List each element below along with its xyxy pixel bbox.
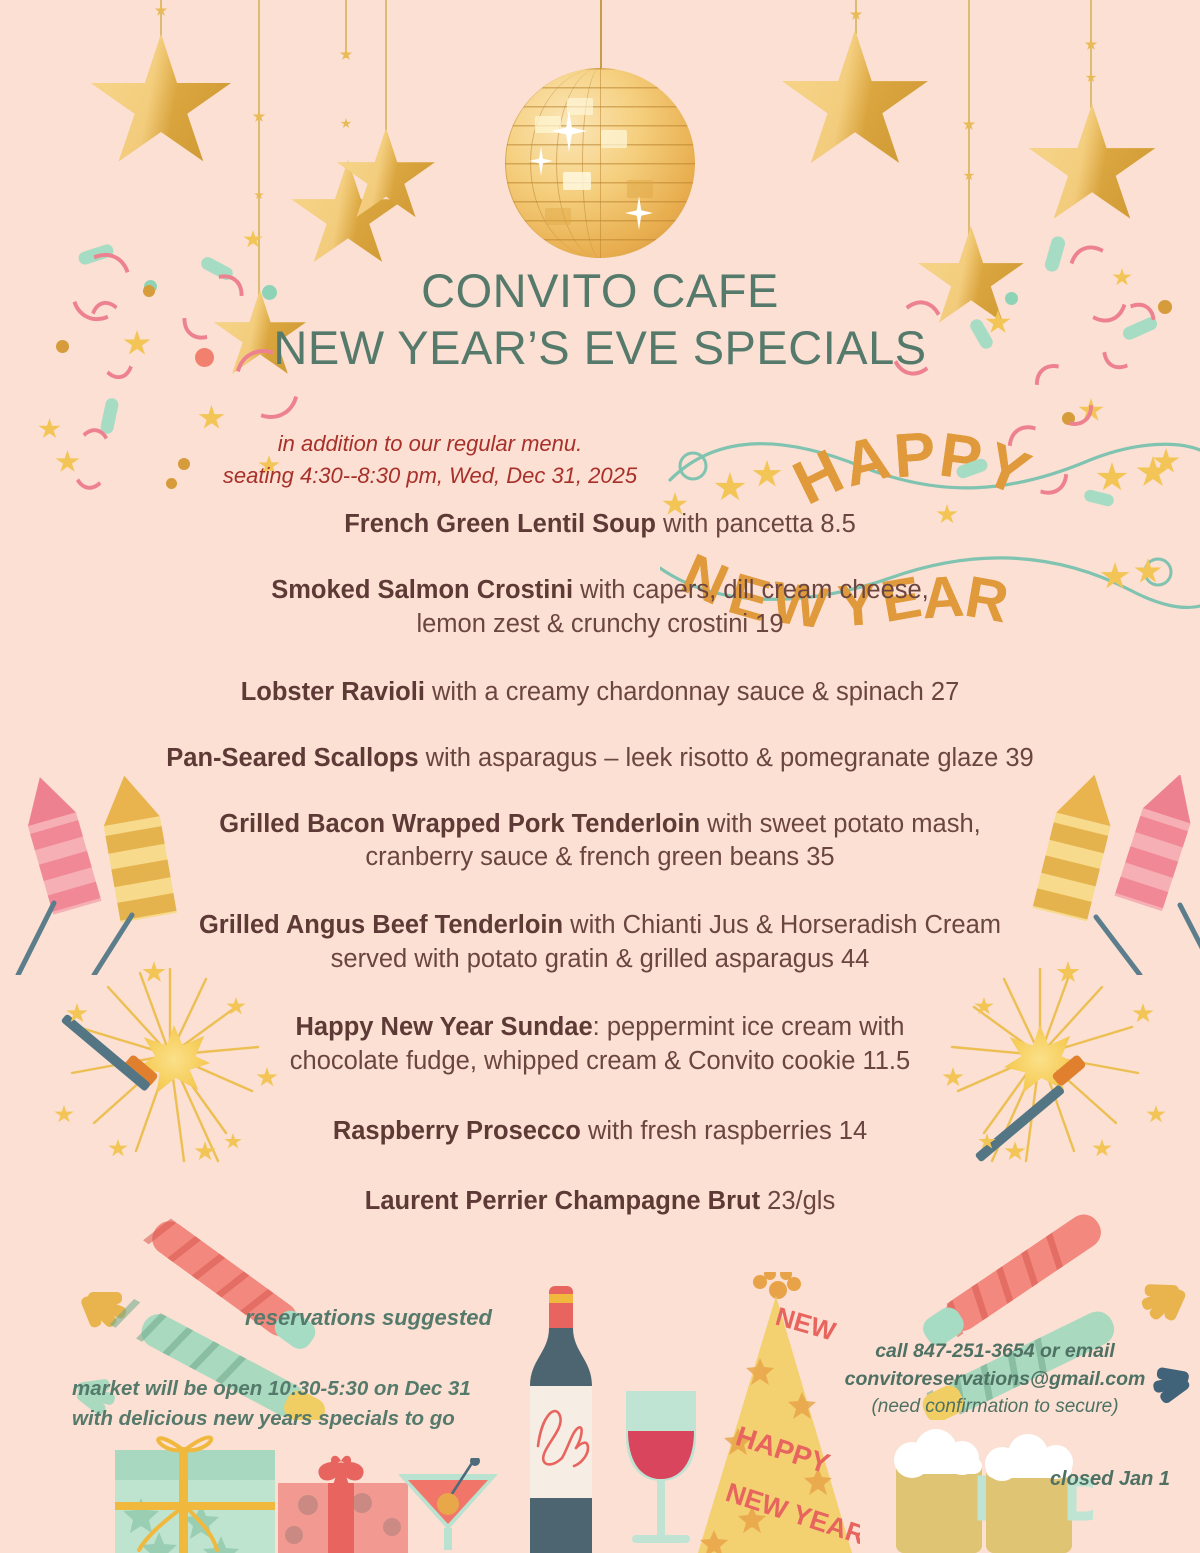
menu-item: Grilled Angus Beef Tenderloin with Chian… — [0, 909, 1200, 977]
contact-confirmation-note: (need confirmation to secure) — [820, 1393, 1170, 1422]
menu-item-name: Lobster Ravioli — [241, 678, 425, 706]
subtitle-line-2: seating 4:30--8:30 pm, Wed, Dec 31, 2025 — [110, 460, 750, 492]
menu-item-line: Smoked Salmon Crostini with capers, dill… — [0, 574, 1200, 608]
menu-item-line: served with potato gratin & grilled aspa… — [0, 943, 1200, 977]
menu-item-line: Pan-Seared Scallops with asparagus – lee… — [0, 742, 1200, 776]
reservations-note: reservations suggested — [245, 1305, 492, 1331]
menu-item-description: with a creamy chardonnay sauce & spinach… — [425, 678, 959, 706]
menu-item: Lobster Ravioli with a creamy chardonnay… — [0, 676, 1200, 710]
menu-item-name: Raspberry Prosecco — [333, 1117, 581, 1145]
menu-item: Pan-Seared Scallops with asparagus – lee… — [0, 742, 1200, 776]
event-subtitle: in addition to our regular menu. seating… — [110, 428, 750, 492]
menu-item: Smoked Salmon Crostini with capers, dill… — [0, 574, 1200, 642]
menu-item-line: Grilled Angus Beef Tenderloin with Chian… — [0, 909, 1200, 943]
poster-title: CONVITO CAFE NEW YEAR’S EVE SPECIALS — [0, 262, 1200, 377]
menu-item: Happy New Year Sundae: peppermint ice cr… — [0, 1011, 1200, 1079]
martini-glass — [388, 1458, 508, 1553]
menu-item: Raspberry Prosecco with fresh raspberrie… — [0, 1115, 1200, 1149]
menu-item-line: chocolate fudge, whipped cream & Convito… — [0, 1045, 1200, 1079]
menu-item-description: 23/gls — [760, 1187, 835, 1215]
contact-block: call 847-251-3654 or email convitoreserv… — [820, 1338, 1170, 1422]
gift-box-mint — [105, 1432, 285, 1553]
menu-item-description: served with potato gratin & grilled aspa… — [331, 945, 870, 973]
menu-list: French Green Lentil Soup with pancetta 8… — [0, 508, 1200, 1249]
menu-item-line: Lobster Ravioli with a creamy chardonnay… — [0, 676, 1200, 710]
menu-item-name: French Green Lentil Soup — [344, 510, 656, 538]
menu-item-name: Grilled Angus Beef Tenderloin — [199, 911, 563, 939]
menu-item-line: Laurent Perrier Champagne Brut 23/gls — [0, 1185, 1200, 1219]
menu-item-description: with Chianti Jus & Horseradish Cream — [563, 911, 1001, 939]
menu-item-description: with sweet potato mash, — [700, 810, 981, 838]
menu-item-name: Laurent Perrier Champagne Brut — [365, 1187, 760, 1215]
menu-item-line: French Green Lentil Soup with pancetta 8… — [0, 508, 1200, 542]
menu-item-description: chocolate fudge, whipped cream & Convito… — [290, 1047, 910, 1075]
menu-item-description: with asparagus – leek risotto & pomegran… — [419, 744, 1034, 772]
closed-note: closed Jan 1 — [1050, 1468, 1170, 1491]
menu-item-name: Smoked Salmon Crostini — [271, 576, 573, 604]
menu-item-line: Raspberry Prosecco with fresh raspberrie… — [0, 1115, 1200, 1149]
contact-phone-line[interactable]: call 847-251-3654 or email — [820, 1338, 1170, 1366]
menu-item-description: cranberry sauce & french green beans 35 — [365, 843, 834, 871]
contact-email-line[interactable]: convitoreservations@gmail.com — [820, 1366, 1170, 1394]
menu-item-name: Grilled Bacon Wrapped Pork Tenderloin — [219, 810, 700, 838]
menu-item-description: : peppermint ice cream with — [593, 1013, 905, 1041]
restaurant-name: CONVITO CAFE — [0, 262, 1200, 319]
menu-item-description: with capers, dill cream cheese, — [573, 576, 929, 604]
event-title: NEW YEAR’S EVE SPECIALS — [0, 319, 1200, 376]
poster-canvas: H A P P Y N E W Y E A R — [0, 0, 1200, 1553]
menu-item-line: Happy New Year Sundae: peppermint ice cr… — [0, 1011, 1200, 1045]
market-line-1: market will be open 10:30-5:30 on Dec 31 — [72, 1374, 552, 1404]
menu-item: Grilled Bacon Wrapped Pork Tenderloin wi… — [0, 808, 1200, 876]
menu-item-name: Happy New Year Sundae — [296, 1013, 593, 1041]
menu-item-name: Pan-Seared Scallops — [166, 744, 418, 772]
menu-item: French Green Lentil Soup with pancetta 8… — [0, 508, 1200, 542]
menu-item-line: cranberry sauce & french green beans 35 — [0, 841, 1200, 875]
menu-item-description: with fresh raspberries 14 — [581, 1117, 867, 1145]
market-line-2: with delicious new years specials to go — [72, 1404, 552, 1434]
menu-item-description: with pancetta 8.5 — [656, 510, 856, 538]
market-hours-note: market will be open 10:30-5:30 on Dec 31… — [72, 1374, 552, 1433]
subtitle-line-1: in addition to our regular menu. — [110, 428, 750, 460]
menu-item: Laurent Perrier Champagne Brut 23/gls — [0, 1185, 1200, 1219]
menu-item-description: lemon zest & crunchy crostini 19 — [416, 610, 783, 638]
menu-item-line: lemon zest & crunchy crostini 19 — [0, 608, 1200, 642]
menu-item-line: Grilled Bacon Wrapped Pork Tenderloin wi… — [0, 808, 1200, 842]
